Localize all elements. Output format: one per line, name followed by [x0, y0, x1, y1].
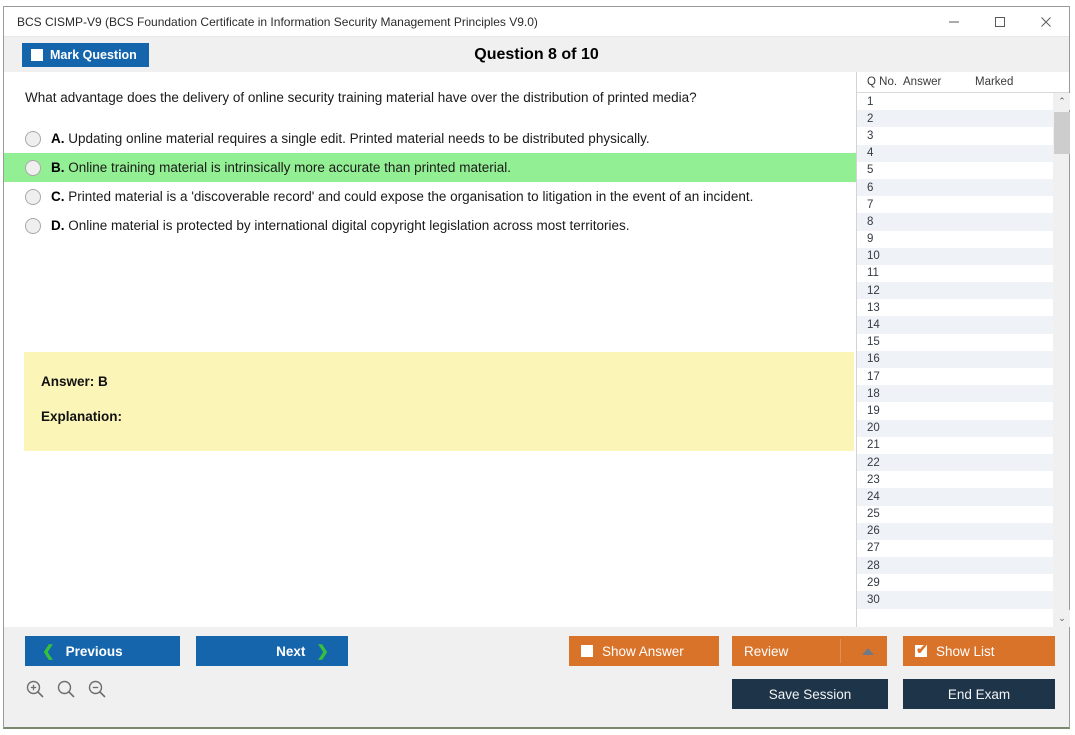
save-session-button[interactable]: Save Session	[732, 679, 888, 709]
maximize-button[interactable]	[977, 7, 1023, 36]
question-number: 29	[857, 577, 903, 589]
question-list-row[interactable]: 5	[857, 162, 1053, 179]
question-list-header: Q No. Answer Marked	[857, 72, 1069, 93]
question-number: 16	[857, 353, 903, 365]
question-list-row[interactable]: 4	[857, 145, 1053, 162]
question-number: 18	[857, 388, 903, 400]
question-number: 17	[857, 371, 903, 383]
radio-icon-d[interactable]	[25, 218, 41, 234]
question-number: 26	[857, 525, 903, 537]
radio-icon-a[interactable]	[25, 131, 41, 147]
caret-up-icon[interactable]	[862, 648, 874, 655]
end-exam-label: End Exam	[948, 687, 1010, 702]
question-list-row[interactable]: 6	[857, 179, 1053, 196]
question-list-row[interactable]: 12	[857, 282, 1053, 299]
previous-button-label: Previous	[66, 644, 123, 659]
question-list-row[interactable]: 21	[857, 437, 1053, 454]
option-label-c: C. Printed material is a 'discoverable r…	[51, 189, 753, 204]
title-bar: BCS CISMP-V9 (BCS Foundation Certificate…	[4, 7, 1069, 37]
previous-button[interactable]: ❮ Previous	[25, 636, 180, 666]
question-number: 1	[857, 96, 903, 108]
question-number: 12	[857, 285, 903, 297]
option-text-a: Updating online material requires a sing…	[68, 131, 649, 146]
question-number: 15	[857, 336, 903, 348]
option-letter-b: B.	[51, 160, 65, 175]
question-list-row[interactable]: 11	[857, 265, 1053, 282]
question-list-row[interactable]: 20	[857, 420, 1053, 437]
question-list-row[interactable]: 26	[857, 523, 1053, 540]
review-divider	[840, 639, 841, 663]
mark-question-label: Mark Question	[50, 48, 137, 62]
chevron-right-icon: ❯	[316, 644, 329, 659]
scrollbar-thumb[interactable]	[1054, 112, 1070, 154]
save-session-label: Save Session	[769, 687, 852, 702]
question-number: 6	[857, 182, 903, 194]
question-number: 11	[857, 267, 903, 279]
question-list-row[interactable]: 17	[857, 368, 1053, 385]
next-button-label: Next	[276, 644, 305, 659]
question-list-row[interactable]: 7	[857, 196, 1053, 213]
explanation-label: Explanation:	[41, 409, 854, 424]
option-label-a: A. Updating online material requires a s…	[51, 131, 650, 146]
options-list: A. Updating online material requires a s…	[4, 124, 856, 240]
review-dropdown-button[interactable]: Review	[732, 636, 887, 666]
question-number: 13	[857, 302, 903, 314]
end-exam-button[interactable]: End Exam	[903, 679, 1055, 709]
question-list-row[interactable]: 16	[857, 351, 1053, 368]
question-list-row[interactable]: 27	[857, 540, 1053, 557]
question-number: 21	[857, 439, 903, 451]
question-number: 9	[857, 233, 903, 245]
radio-icon-b[interactable]	[25, 160, 41, 176]
option-letter-c: C.	[51, 189, 65, 204]
question-text: What advantage does the delivery of onli…	[25, 89, 835, 107]
question-number: 22	[857, 457, 903, 469]
body-split: What advantage does the delivery of onli…	[4, 72, 1069, 627]
question-list-row[interactable]: 1	[857, 93, 1053, 110]
question-list-row[interactable]: 19	[857, 402, 1053, 419]
question-number: 27	[857, 542, 903, 554]
show-list-button[interactable]: ✔ Show List	[903, 636, 1055, 666]
question-number: 14	[857, 319, 903, 331]
footer-toolbar: ❮ Previous Next ❯ Show Answer Review ✔ S…	[4, 627, 1069, 727]
question-number: 8	[857, 216, 903, 228]
close-button[interactable]	[1023, 7, 1069, 36]
question-list-row[interactable]: 18	[857, 385, 1053, 402]
scroll-up-arrow-icon[interactable]: ⌃	[1054, 93, 1070, 110]
question-list-scrollbar[interactable]: ⌃ ⌄	[1053, 93, 1069, 627]
question-list-row[interactable]: 15	[857, 334, 1053, 351]
zoom-icon[interactable]	[56, 679, 76, 699]
option-letter-d: D.	[51, 218, 65, 233]
option-text-d: Online material is protected by internat…	[68, 218, 629, 233]
question-list-row[interactable]: 29	[857, 574, 1053, 591]
question-number: 28	[857, 560, 903, 572]
column-header-qno: Q No.	[857, 76, 903, 88]
option-letter-a: A.	[51, 131, 65, 146]
question-number: 10	[857, 250, 903, 262]
question-list-row[interactable]: 9	[857, 231, 1053, 248]
chevron-left-icon: ❮	[42, 644, 55, 659]
question-list-row[interactable]: 23	[857, 471, 1053, 488]
question-list-row[interactable]: 28	[857, 557, 1053, 574]
show-answer-label: Show Answer	[602, 644, 684, 659]
minimize-button[interactable]	[931, 7, 977, 36]
question-list-row[interactable]: 8	[857, 213, 1053, 230]
question-number: 3	[857, 130, 903, 142]
show-answer-checkbox[interactable]	[581, 645, 593, 657]
option-row-d[interactable]: D. Online material is protected by inter…	[4, 211, 856, 240]
review-label: Review	[744, 644, 788, 659]
question-counter: Question 8 of 10	[4, 46, 1069, 64]
question-number: 23	[857, 474, 903, 486]
option-row-b[interactable]: B. Online training material is intrinsic…	[4, 153, 856, 182]
question-list-row[interactable]: 22	[857, 454, 1053, 471]
zoom-out-icon[interactable]	[87, 679, 107, 699]
zoom-in-icon[interactable]	[25, 679, 45, 699]
question-number: 19	[857, 405, 903, 417]
question-number: 2	[857, 113, 903, 125]
question-number: 4	[857, 147, 903, 159]
question-list-rows: 1234567891011121314151617181920212223242…	[857, 93, 1053, 627]
column-header-answer: Answer	[903, 76, 975, 88]
show-list-label: Show List	[936, 644, 995, 659]
column-header-marked: Marked	[975, 76, 1069, 88]
question-list-row[interactable]: 25	[857, 506, 1053, 523]
option-label-b: B. Online training material is intrinsic…	[51, 160, 511, 175]
option-text-b: Online training material is intrinsicall…	[68, 160, 511, 175]
question-list-row[interactable]: 24	[857, 488, 1053, 505]
option-row-c[interactable]: C. Printed material is a 'discoverable r…	[4, 182, 856, 211]
question-list-panel: Q No. Answer Marked 12345678910111213141…	[856, 72, 1069, 627]
option-row-a[interactable]: A. Updating online material requires a s…	[4, 124, 856, 153]
question-list-row[interactable]: 13	[857, 299, 1053, 316]
close-icon	[1040, 16, 1052, 28]
mark-question-checkbox[interactable]	[31, 49, 43, 61]
zoom-toolbar	[25, 679, 107, 699]
question-number: 20	[857, 422, 903, 434]
show-answer-button[interactable]: Show Answer	[569, 636, 719, 666]
question-number: 24	[857, 491, 903, 503]
option-label-d: D. Online material is protected by inter…	[51, 218, 630, 233]
question-list-row[interactable]: 10	[857, 248, 1053, 265]
question-list-row[interactable]: 14	[857, 316, 1053, 333]
scroll-down-arrow-icon[interactable]: ⌄	[1054, 610, 1070, 627]
answer-panel: Answer: B Explanation:	[24, 352, 854, 451]
question-list-row[interactable]: 3	[857, 127, 1053, 144]
question-list-row[interactable]: 2	[857, 110, 1053, 127]
header-bar: Mark Question Question 8 of 10	[4, 37, 1069, 72]
minimize-icon	[948, 16, 960, 28]
radio-icon-c[interactable]	[25, 189, 41, 205]
maximize-icon	[994, 16, 1006, 28]
show-list-checkbox[interactable]: ✔	[915, 645, 927, 657]
next-button[interactable]: Next ❯	[196, 636, 348, 666]
answer-value: Answer: B	[41, 374, 854, 389]
question-list-body: 1234567891011121314151617181920212223242…	[857, 93, 1069, 627]
question-number: 5	[857, 164, 903, 176]
question-number: 7	[857, 199, 903, 211]
question-list-row[interactable]: 30	[857, 591, 1053, 608]
option-text-c: Printed material is a 'discoverable reco…	[68, 189, 753, 204]
question-number: 25	[857, 508, 903, 520]
check-icon: ✔	[916, 642, 928, 656]
question-pane: What advantage does the delivery of onli…	[4, 72, 856, 627]
question-number: 30	[857, 594, 903, 606]
application-window: BCS CISMP-V9 (BCS Foundation Certificate…	[3, 6, 1070, 729]
window-title: BCS CISMP-V9 (BCS Foundation Certificate…	[4, 15, 931, 29]
mark-question-button[interactable]: Mark Question	[22, 43, 149, 67]
